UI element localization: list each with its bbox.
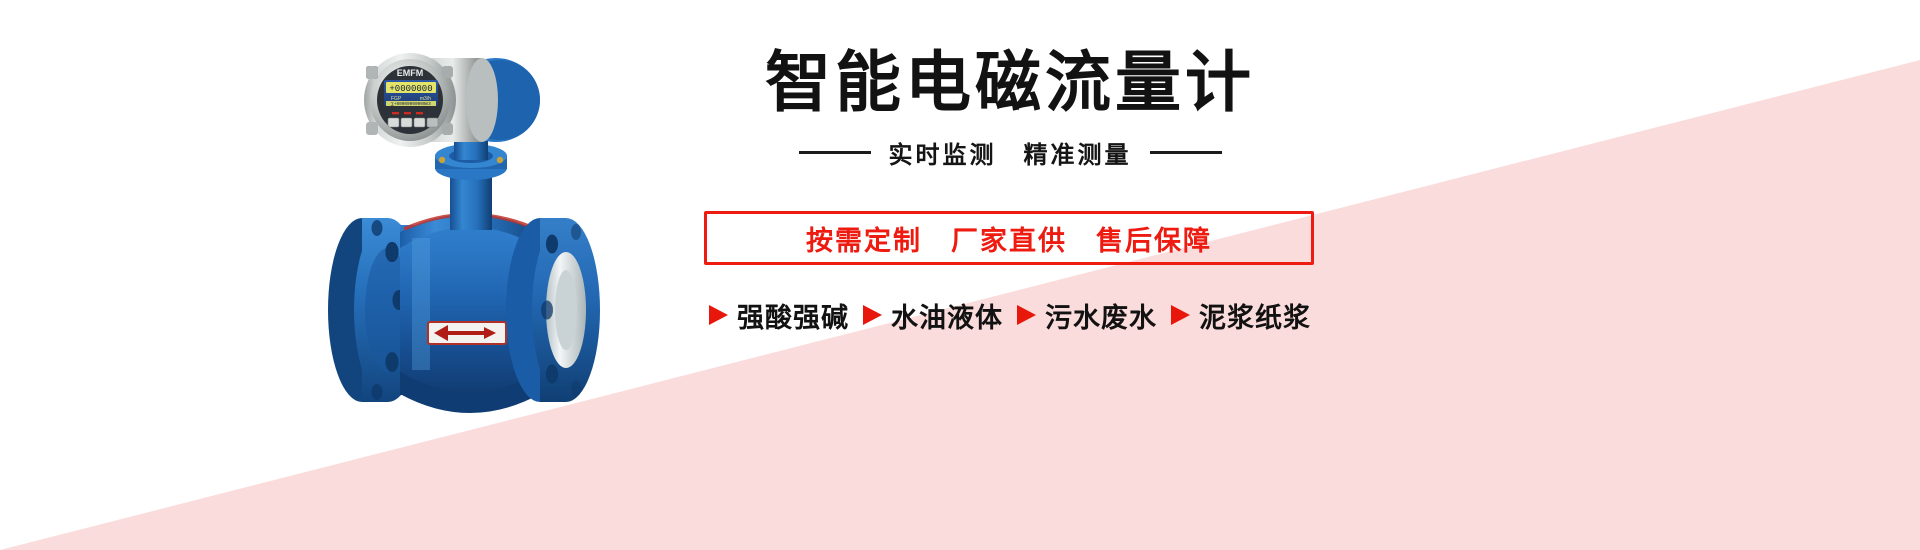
feature-label: 强酸强碱 [737,296,849,335]
feature-label: 污水废水 [1045,296,1157,335]
converter-housing: EMFM +0000000 FGP m3/h ∑+00000000000m3 [364,53,540,147]
subtitle: 实时监测 精准测量 [889,135,1132,170]
triangle-right-icon [1017,305,1036,325]
right-flange [506,218,600,402]
promo-box-text: 按需定制 厂家直供 售后保障 [806,219,1212,258]
lcd-total: ∑+00000000000m3 [391,102,431,107]
page-title: 智能电磁流量计 [660,45,1360,119]
rule-left [799,151,871,154]
subtitle-row: 实时监测 精准测量 [660,135,1360,170]
triangle-right-icon [709,305,728,325]
feature-label: 水油液体 [891,296,1003,335]
feature-item: 强酸强碱 [709,296,849,335]
promo-banner: EMFM +0000000 FGP m3/h ∑+00000000000m3 [0,0,1920,550]
converter-brand-label: EMFM [397,68,424,78]
feature-item: 污水废水 [1017,296,1157,335]
feature-list: 强酸强碱 水油液体 污水废水 泥浆纸浆 [610,292,1410,338]
flow-direction-arrow-sticker [428,322,506,344]
promo-box: 按需定制 厂家直供 售后保障 [704,211,1314,265]
rule-right [1150,151,1222,154]
lcd-value: +0000000 [389,84,432,94]
triangle-right-icon [1171,305,1190,325]
feature-item: 泥浆纸浆 [1171,296,1311,335]
feature-item: 水油液体 [863,296,1003,335]
banner-content: 智能电磁流量计 实时监测 精准测量 按需定制 厂家直供 售后保障 强酸强碱 水油… [600,0,1920,550]
triangle-right-icon [863,305,882,325]
feature-label: 泥浆纸浆 [1199,296,1311,335]
